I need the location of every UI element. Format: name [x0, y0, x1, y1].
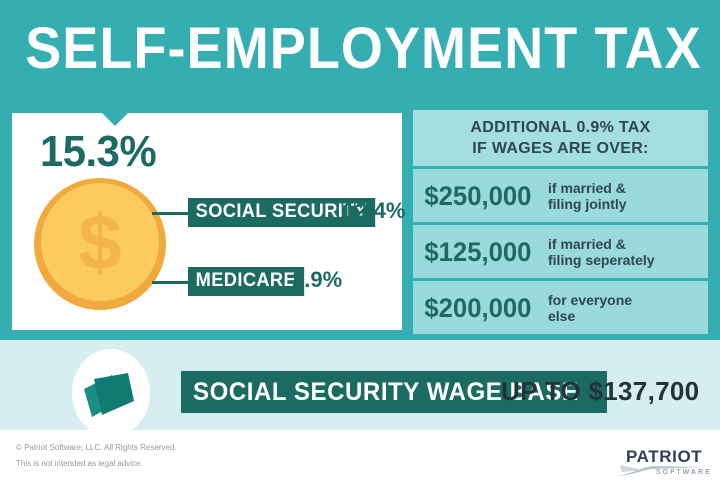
additional-tax-heading-line2: IF WAGES ARE OVER:	[472, 138, 648, 159]
connector-line-medicare	[152, 281, 188, 284]
page-title: SELF-EMPLOYMENT TAX RATE	[25, 14, 695, 84]
wage-base-amount: UP TO $137,700	[501, 376, 699, 406]
footer-copyright: © Patriot Software, LLC. All Rights Rese…	[16, 440, 177, 456]
social-security-percent: 12.4%	[343, 198, 405, 224]
coin-illustration: $	[34, 178, 170, 314]
header-banner: SELF-EMPLOYMENT TAX RATE	[0, 0, 720, 103]
money-bills-icon	[72, 349, 150, 437]
additional-tax-heading: ADDITIONAL 0.9% TAX IF WAGES ARE OVER:	[413, 110, 708, 166]
threshold-description-line1: for everyone	[548, 292, 708, 308]
threshold-row: $200,000 for everyone else	[413, 281, 708, 334]
threshold-description-line1: if married &	[548, 236, 708, 252]
infographic-root: SELF-EMPLOYMENT TAX RATE 15.3% $ SOCIAL …	[0, 0, 720, 494]
threshold-description: if married & filing jointly	[548, 180, 708, 212]
threshold-description-line2: else	[548, 308, 708, 324]
additional-tax-panel: ADDITIONAL 0.9% TAX IF WAGES ARE OVER: $…	[413, 110, 708, 333]
patriot-software-logo: PATRIOT SOFTWARE	[612, 447, 708, 483]
threshold-amount: $200,000	[413, 293, 541, 323]
dollar-sign-icon: $	[41, 183, 159, 301]
threshold-row: $250,000 if married & filing jointly	[413, 169, 708, 222]
connector-line-social-security	[152, 212, 188, 215]
threshold-description: for everyone else	[548, 292, 708, 324]
threshold-description-line2: filing seperately	[548, 252, 708, 268]
threshold-amount: $125,000	[413, 237, 541, 267]
total-tax-rate-value: 15.3%	[40, 128, 156, 176]
threshold-amount: $250,000	[413, 181, 541, 211]
threshold-description-line2: filing jointly	[548, 196, 708, 212]
medicare-label: MEDICARE	[188, 267, 304, 296]
pointer-notch-icon	[92, 103, 138, 126]
footer-legal-text: © Patriot Software, LLC. All Rights Rese…	[16, 440, 177, 472]
threshold-row: $125,000 if married & filing seperately	[413, 225, 708, 278]
threshold-description: if married & filing seperately	[548, 236, 708, 268]
footer-disclaimer: This is not intended as legal advice.	[16, 456, 177, 472]
medicare-percent: 2.9%	[292, 267, 342, 293]
logo-subtext: SOFTWARE	[656, 468, 712, 477]
additional-tax-heading-line1: ADDITIONAL 0.9% TAX	[470, 117, 650, 138]
threshold-description-line1: if married &	[548, 180, 708, 196]
